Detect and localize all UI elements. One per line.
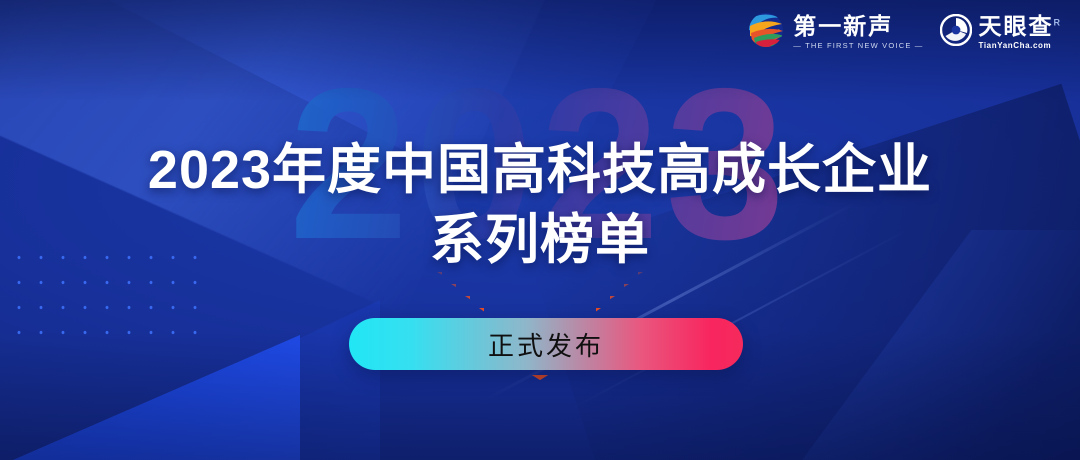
diyixinsheng-tagline: — THE FIRST NEW VOICE —: [793, 42, 923, 50]
tianyancha-logo[interactable]: 天眼查R TianYanCha.com: [940, 14, 1063, 51]
diyixinsheng-cn-name: 第一新声: [793, 15, 923, 38]
logo-bar: 第一新声 — THE FIRST NEW VOICE — 天眼查R TianYa…: [746, 12, 1062, 53]
release-status-pill[interactable]: 正式发布: [349, 318, 743, 370]
poster-banner: 2023 2023年度中国高科技高成长企业 系列榜单 正式发布: [0, 0, 1080, 460]
registered-mark: R: [1054, 17, 1063, 27]
tianyancha-text: 天眼查R TianYanCha.com: [979, 15, 1063, 50]
headline-line-2: 系列榜单: [0, 208, 1080, 272]
diyixinsheng-logo[interactable]: 第一新声 — THE FIRST NEW VOICE —: [746, 12, 923, 53]
headline-line-1: 2023年度中国高科技高成长企业: [0, 138, 1080, 202]
tianyancha-cn-name: 天眼查R: [979, 15, 1063, 38]
eye-lens-icon: [940, 14, 972, 51]
tianyancha-domain: TianYanCha.com: [979, 42, 1063, 50]
swirl-icon: [746, 12, 786, 53]
diyixinsheng-text: 第一新声 — THE FIRST NEW VOICE —: [793, 15, 923, 50]
poster-headline: 2023年度中国高科技高成长企业 系列榜单: [0, 138, 1080, 272]
release-status-label: 正式发布: [488, 326, 604, 363]
